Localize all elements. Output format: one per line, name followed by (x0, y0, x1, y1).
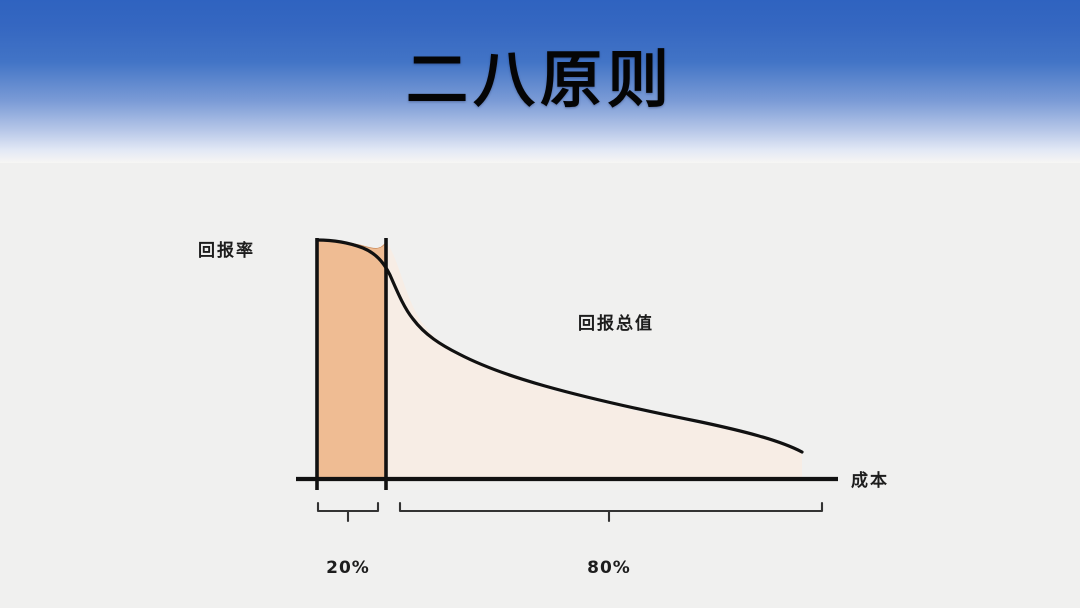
bracket-80-percent (400, 503, 822, 521)
area-fill-right (386, 242, 802, 479)
x-axis-label: 成本 (851, 466, 889, 491)
area-annotation-label: 回报总值 (578, 309, 654, 334)
percent-label-80: 80% (549, 558, 669, 578)
page-title: 二八原则 (0, 44, 1080, 116)
bracket-20-percent (318, 503, 378, 521)
chart-container: 回报率 回报总值 成本 20% 80% (0, 163, 1080, 608)
y-axis-label: 回报率 (198, 236, 255, 261)
slide-root: 二八原则 (0, 0, 1080, 608)
pareto-area-chart (0, 163, 1080, 608)
percent-label-20: 20% (288, 558, 408, 578)
area-fill-left (317, 240, 386, 479)
